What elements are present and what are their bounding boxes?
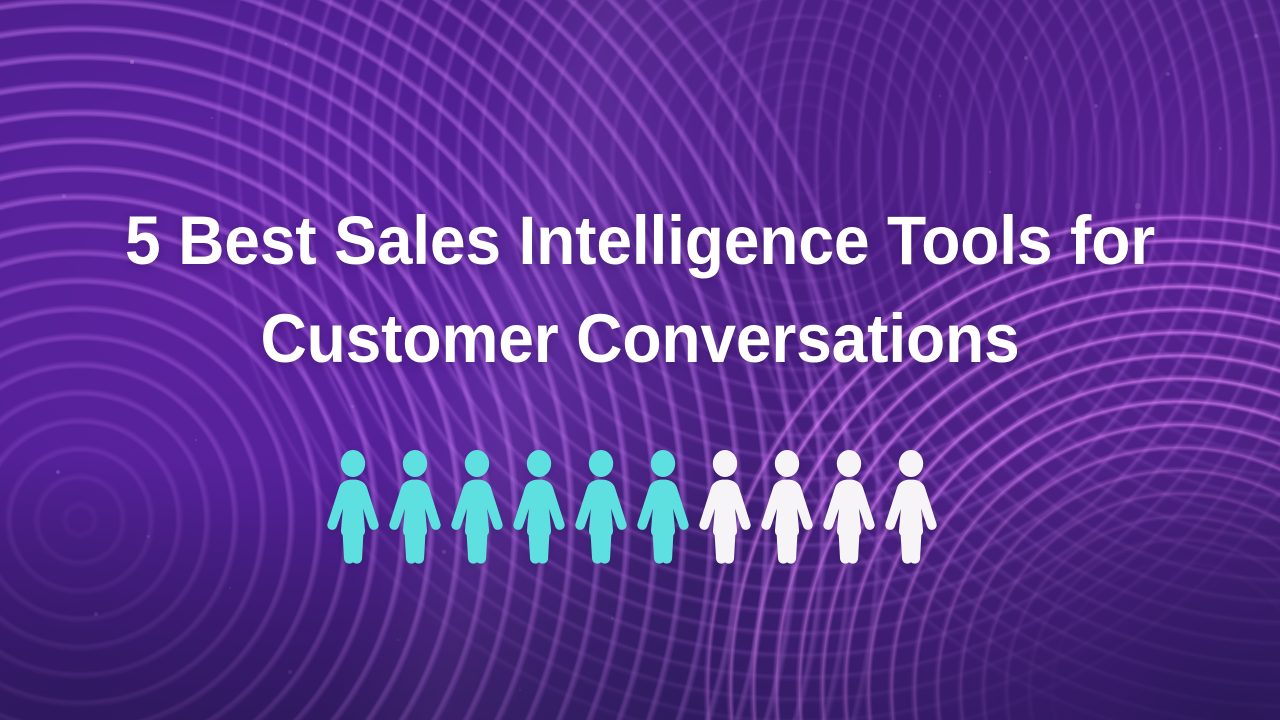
particle-dot <box>1166 72 1170 76</box>
particle-dot <box>397 639 400 642</box>
particle-dot <box>1254 34 1257 37</box>
banner-canvas: 5 Best Sales Intelligence Tools for Cust… <box>0 0 1280 720</box>
particle-dot <box>288 670 291 673</box>
particle-dot <box>130 60 134 64</box>
particle-dot <box>989 171 992 174</box>
particle-dot <box>94 612 98 616</box>
particle-dot <box>519 689 522 692</box>
person-icon <box>760 450 814 564</box>
person-icon <box>450 450 504 564</box>
particle-dot <box>285 43 287 45</box>
person-icon <box>698 450 752 564</box>
person-icon <box>636 450 690 564</box>
particle-dot <box>1219 147 1222 150</box>
particle-dot <box>229 587 232 590</box>
particle-dot <box>939 95 942 98</box>
particle-dot <box>1094 104 1098 108</box>
person-icon <box>512 450 566 564</box>
people-pictogram-row <box>326 450 938 564</box>
particle-dot <box>1024 56 1029 61</box>
particle-dot <box>351 405 354 408</box>
particle-dot <box>611 617 614 620</box>
particle-dot <box>147 535 150 538</box>
particle-dot <box>195 439 198 442</box>
person-icon <box>884 450 938 564</box>
person-icon <box>574 450 628 564</box>
person-icon <box>388 450 442 564</box>
banner-headline: 5 Best Sales Intelligence Tools for Cust… <box>45 192 1235 388</box>
particle-dot <box>211 117 214 120</box>
person-icon <box>822 450 876 564</box>
person-icon <box>326 450 380 564</box>
particle-dot <box>56 470 60 474</box>
